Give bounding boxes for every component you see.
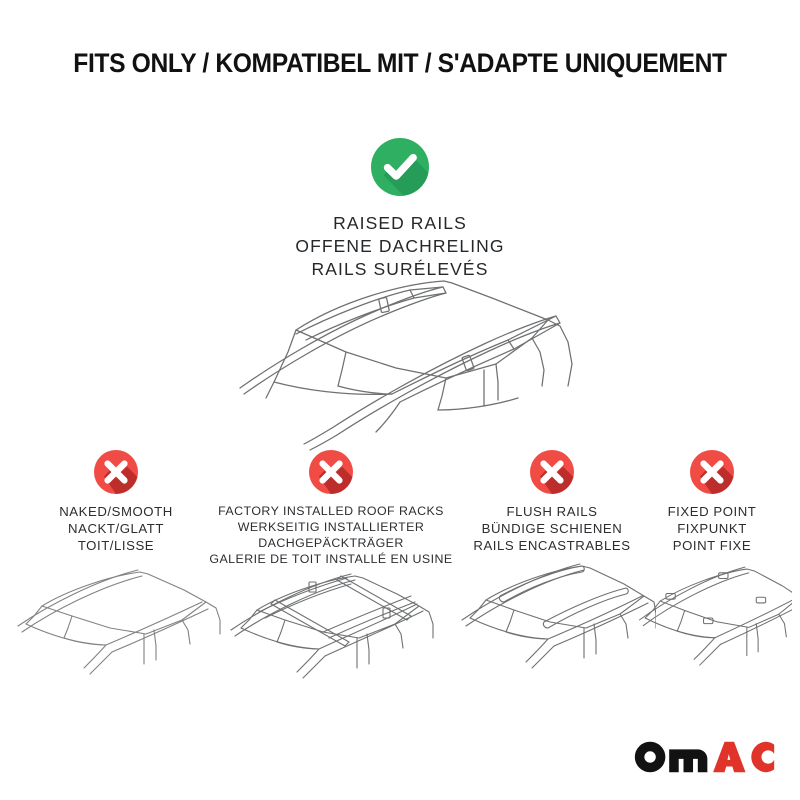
approved-label-en: RAISED RAILS xyxy=(0,212,800,235)
rejected-item-fixed-point: FIXED POINT FIXPUNKT POINT FIXE xyxy=(632,450,792,678)
rejected-label-fr: TOIT/LISSE xyxy=(6,537,226,554)
rejected-label-en: NAKED/SMOOTH xyxy=(6,503,226,520)
x-circle-icon xyxy=(94,450,138,494)
rejected-item-factory-roof-racks: FACTORY INSTALLED ROOF RACKS WERKSEITIG … xyxy=(205,450,457,688)
rejected-labels: FACTORY INSTALLED ROOF RACKS WERKSEITIG … xyxy=(205,503,457,568)
car-roof-naked-smooth-illustration xyxy=(6,562,226,682)
omac-logo xyxy=(631,736,776,778)
car-roof-factory-racks-illustration xyxy=(205,568,457,688)
rejected-item-naked-smooth: NAKED/SMOOTH NACKT/GLATT TOIT/LISSE xyxy=(6,450,226,682)
rejected-labels: FLUSH RAILS BÜNDIGE SCHIENEN RAILS ENCAS… xyxy=(448,503,656,554)
x-circle-icon xyxy=(690,450,734,494)
rejected-section: NAKED/SMOOTH NACKT/GLATT TOIT/LISSE xyxy=(0,450,800,700)
rejected-item-flush-rails: FLUSH RAILS BÜNDIGE SCHIENEN RAILS ENCAS… xyxy=(448,450,656,678)
rejected-labels: NAKED/SMOOTH NACKT/GLATT TOIT/LISSE xyxy=(6,503,226,554)
page-title: FITS ONLY / KOMPATIBEL MIT / S'ADAPTE UN… xyxy=(28,48,772,79)
rejected-label-fr: GALERIE DE TOIT INSTALLÉ EN USINE xyxy=(205,551,457,567)
approved-label-de: OFFENE DACHRELING xyxy=(0,235,800,258)
rejected-label-de: FIXPUNKT xyxy=(632,520,792,537)
header: FITS ONLY / KOMPATIBEL MIT / S'ADAPTE UN… xyxy=(0,48,800,79)
check-circle-icon xyxy=(371,138,429,196)
rejected-label-en: FIXED POINT xyxy=(632,503,792,520)
rejected-label-de-2: DACHGEPÄCKTRÄGER xyxy=(205,535,457,551)
approved-labels: RAISED RAILS OFFENE DACHRELING RAILS SUR… xyxy=(0,212,800,281)
rejected-label-de: NACKT/GLATT xyxy=(6,520,226,537)
rejected-label-de: BÜNDIGE SCHIENEN xyxy=(448,520,656,537)
rejected-label-en: FLUSH RAILS xyxy=(448,503,656,520)
x-circle-icon xyxy=(530,450,574,494)
compatibility-infographic: FITS ONLY / KOMPATIBEL MIT / S'ADAPTE UN… xyxy=(0,0,800,800)
rejected-label-de-1: WERKSEITIG INSTALLIERTER xyxy=(205,519,457,535)
approved-section: RAISED RAILS OFFENE DACHRELING RAILS SUR… xyxy=(0,138,800,281)
car-roof-raised-rails-illustration xyxy=(196,278,626,458)
car-roof-flush-rails-illustration xyxy=(448,558,656,678)
rejected-labels: FIXED POINT FIXPUNKT POINT FIXE xyxy=(632,503,792,554)
rejected-label-fr: RAILS ENCASTRABLES xyxy=(448,537,656,554)
x-circle-icon xyxy=(309,450,353,494)
rejected-label-en: FACTORY INSTALLED ROOF RACKS xyxy=(205,503,457,519)
rejected-label-fr: POINT FIXE xyxy=(632,537,792,554)
car-roof-fixed-point-illustration xyxy=(632,558,792,678)
